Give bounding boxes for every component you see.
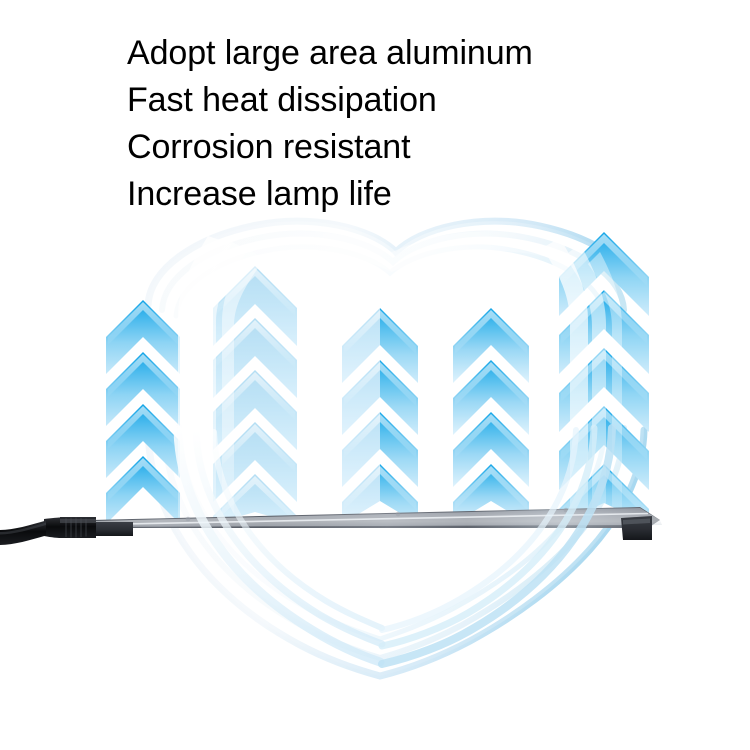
- feature-line-1: Adopt large area aluminum: [127, 30, 687, 77]
- feature-text-block: Adopt large area aluminum Fast heat diss…: [127, 30, 687, 218]
- connector-top-highlight: [60, 519, 96, 523]
- feature-line-2: Fast heat dissipation: [127, 77, 687, 124]
- left-mounting-bracket: [95, 522, 133, 536]
- product-feature-image: Adopt large area aluminum Fast heat diss…: [0, 0, 750, 750]
- bar-screw-mark: [564, 508, 569, 513]
- cable-strain-relief: [44, 518, 60, 539]
- feature-line-4: Increase lamp life: [127, 171, 687, 218]
- aluminum-bar-front-chamfer: [90, 508, 662, 527]
- feature-line-3: Corrosion resistant: [127, 124, 687, 171]
- bar-screw-mark: [186, 517, 191, 522]
- bar-screw-mark: [396, 512, 401, 517]
